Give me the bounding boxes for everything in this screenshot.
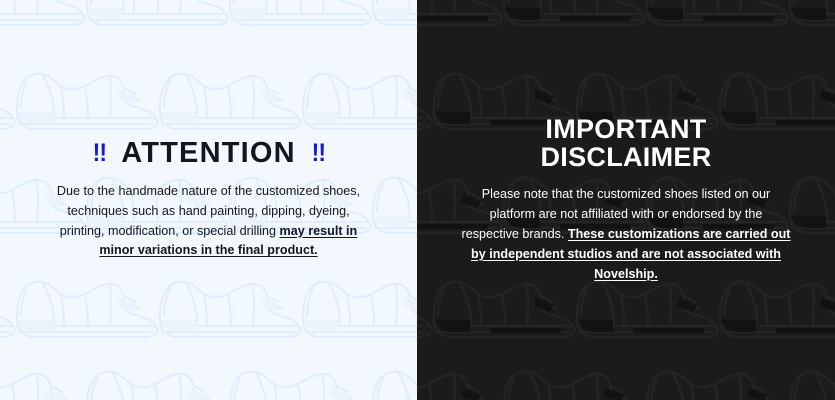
disclaimer-panel: IMPORTANT DISCLAIMER Please note that th… [417,0,835,400]
attention-heading: !! ATTENTION !! [26,139,391,168]
attention-body-text: Due to the handmade nature of the custom… [54,182,364,262]
disclaimer-heading-line-1: IMPORTANT [443,115,809,143]
attention-content: !! ATTENTION !! Due to the handmade natu… [0,139,417,262]
customization-disclaimer-banner: !! ATTENTION !! Due to the handmade natu… [0,0,835,400]
disclaimer-body-text: Please note that the customized shoes li… [461,185,791,284]
disclaimer-heading: IMPORTANT DISCLAIMER [443,115,809,171]
double-exclamation-right-icon: !! [311,141,324,166]
double-exclamation-left-icon: !! [92,141,105,166]
disclaimer-heading-line-2: DISCLAIMER [443,143,809,171]
disclaimer-content: IMPORTANT DISCLAIMER Please note that th… [417,115,835,285]
attention-panel: !! ATTENTION !! Due to the handmade natu… [0,0,417,400]
attention-heading-word: ATTENTION [121,139,296,168]
